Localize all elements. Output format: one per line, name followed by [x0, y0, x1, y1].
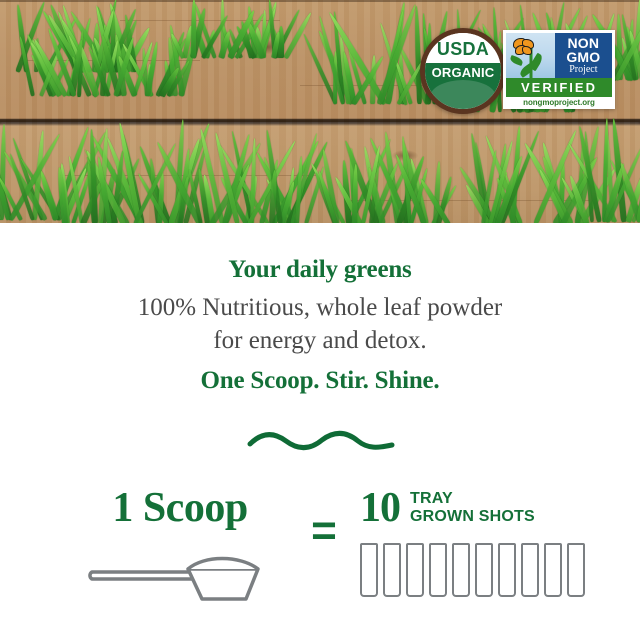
headline: Your daily greens [0, 256, 640, 284]
shot-glass [475, 543, 493, 597]
product-infographic: USDA ORGANIC [0, 0, 640, 640]
nongmo-line-project: Project [569, 65, 597, 75]
shot-glass [567, 543, 585, 597]
shot-glass [429, 543, 447, 597]
nongmo-top-row: NON GMO Project [506, 33, 612, 78]
grass-clump [470, 126, 585, 223]
measuring-scoop-icon [80, 541, 280, 605]
plant-leaf [509, 55, 524, 66]
nongmo-wordmark: NON GMO Project [555, 33, 612, 78]
subheadline-line-2: for energy and detox. [0, 324, 640, 357]
subheadline-line-1: 100% Nutritious, whole leaf powder [0, 291, 640, 324]
grass-clump [588, 122, 640, 222]
one-scoop-label: 1 Scoop [60, 487, 300, 529]
wheatgrass-photo: USDA ORGANIC [0, 0, 640, 223]
grass-clump [175, 0, 285, 58]
nongmo-url: nongmoproject.org [506, 97, 612, 108]
grass-clump [30, 26, 180, 96]
wave-divider-icon [246, 428, 396, 454]
butterfly-wing [522, 46, 532, 55]
shot-glass-row [360, 543, 615, 597]
grass-clump [330, 130, 450, 223]
shots-heading: 10 TRAY GROWN SHOTS [360, 487, 615, 529]
scoop-side: 1 Scoop [60, 487, 300, 610]
usda-organic-seal: USDA ORGANIC [420, 28, 506, 114]
nongmo-line-non: NON [568, 36, 600, 50]
shot-glass [498, 543, 516, 597]
verified-banner: VERIFIED [506, 78, 612, 97]
usda-top-half: USDA [425, 33, 501, 66]
shot-glass [360, 543, 378, 597]
comparison-row: 1 Scoop = 10 TRAY GROWN SHOTS [0, 487, 640, 627]
tagline: One Scoop. Stir. Shine. [0, 367, 640, 395]
shots-side: 10 TRAY GROWN SHOTS [360, 487, 615, 597]
shot-glass [544, 543, 562, 597]
shot-glass [521, 543, 539, 597]
grass-blade [376, 3, 417, 105]
copy-block: Your daily greens 100% Nutritious, whole… [0, 223, 640, 395]
organic-label: ORGANIC [432, 65, 495, 80]
grass-blade [414, 6, 422, 104]
shot-glass [383, 543, 401, 597]
label-line-1: TRAY [410, 490, 453, 507]
shot-glass [452, 543, 470, 597]
shot-count: 10 [360, 487, 400, 529]
label-line-2: GROWN SHOTS [410, 508, 535, 525]
equals-sign: = [300, 509, 348, 553]
tray-grown-shots-label: TRAY GROWN SHOTS [410, 490, 535, 526]
grass-clump [0, 120, 60, 220]
usda-label: USDA [437, 39, 489, 60]
usda-arc-highlight [430, 80, 497, 114]
non-gmo-project-seal: NON GMO Project VERIFIED nongmoproject.o… [503, 30, 615, 109]
nongmo-line-gmo: GMO [566, 50, 600, 64]
shot-glass [406, 543, 424, 597]
butterfly-plant-icon [506, 33, 555, 78]
butterfly-icon [513, 38, 533, 55]
grass-clump [195, 128, 305, 223]
